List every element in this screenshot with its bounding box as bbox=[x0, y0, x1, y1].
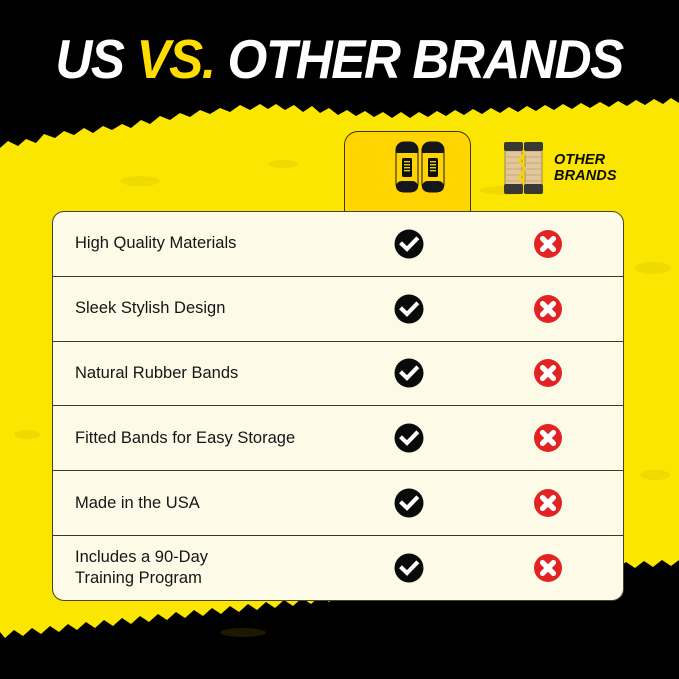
us-cell bbox=[345, 488, 472, 518]
check-circle-icon bbox=[394, 229, 424, 259]
cross-circle-icon bbox=[533, 423, 563, 453]
feature-label-line1: Fitted Bands for Easy Storage bbox=[75, 429, 295, 447]
table-row: High Quality Materials bbox=[53, 212, 623, 277]
cross-circle-icon bbox=[533, 358, 563, 388]
feature-label-line1: Sleek Stylish Design bbox=[75, 299, 225, 317]
cross-circle-icon bbox=[533, 229, 563, 259]
us-cell bbox=[345, 358, 472, 388]
cross-circle-icon bbox=[533, 294, 563, 324]
feature-label-cell: Natural Rubber Bands bbox=[53, 363, 345, 384]
table-row: Fitted Bands for Easy Storage bbox=[53, 406, 623, 471]
feature-label-line1: Natural Rubber Bands bbox=[75, 364, 238, 382]
check-circle-icon bbox=[394, 358, 424, 388]
other-cell bbox=[472, 358, 623, 388]
other-brands-label-line2: BRANDS bbox=[554, 168, 617, 184]
title-text: US VS. OTHER BRANDS bbox=[56, 32, 623, 87]
page-title: US VS. OTHER BRANDS bbox=[0, 0, 679, 118]
other-cell bbox=[472, 294, 623, 324]
other-cell bbox=[472, 488, 623, 518]
other-cell bbox=[472, 423, 623, 453]
us-cell bbox=[345, 229, 472, 259]
other-brands-header: OTHER BRANDS bbox=[502, 137, 652, 199]
check-circle-icon bbox=[394, 294, 424, 324]
other-brands-label-line1: OTHER bbox=[554, 152, 617, 168]
comparison-infographic: US VS. OTHER BRANDS bbox=[0, 0, 679, 679]
feature-label-cell: Made in the USA bbox=[53, 493, 345, 514]
check-circle-icon bbox=[394, 553, 424, 583]
yellow-black-rubber-grips-icon bbox=[391, 136, 451, 198]
us-cell bbox=[345, 553, 472, 583]
tan-coiled-rubber-grips-icon bbox=[502, 139, 546, 197]
feature-label-cell: Fitted Bands for Easy Storage bbox=[53, 428, 345, 449]
other-cell bbox=[472, 553, 623, 583]
table-row: Natural Rubber Bands bbox=[53, 342, 623, 407]
feature-label-cell: Sleek Stylish Design bbox=[53, 298, 345, 319]
title-part-two: OTHER BRANDS bbox=[215, 28, 623, 90]
cross-circle-icon bbox=[533, 553, 563, 583]
other-cell bbox=[472, 229, 623, 259]
title-part-one: US bbox=[56, 28, 137, 90]
other-brands-label: OTHER BRANDS bbox=[554, 152, 617, 184]
feature-label-line1: Made in the USA bbox=[75, 494, 200, 512]
feature-label-cell: High Quality Materials bbox=[53, 233, 345, 254]
check-circle-icon bbox=[394, 488, 424, 518]
us-cell bbox=[345, 423, 472, 453]
feature-label-cell: Includes a 90-Day Training Program bbox=[53, 547, 345, 589]
feature-label-line1: Includes a 90-Day bbox=[75, 548, 208, 566]
feature-label-line1: High Quality Materials bbox=[75, 234, 236, 252]
feature-label-line2: Training Program bbox=[75, 568, 345, 589]
table-row: Made in the USA bbox=[53, 471, 623, 536]
title-accent-vs: VS. bbox=[137, 28, 215, 90]
table-row: Includes a 90-Day Training Program bbox=[53, 536, 623, 601]
us-cell bbox=[345, 294, 472, 324]
cross-circle-icon bbox=[533, 488, 563, 518]
comparison-table: High Quality Materials Sleek Stylish Des… bbox=[52, 211, 624, 601]
check-circle-icon bbox=[394, 423, 424, 453]
table-row: Sleek Stylish Design bbox=[53, 277, 623, 342]
